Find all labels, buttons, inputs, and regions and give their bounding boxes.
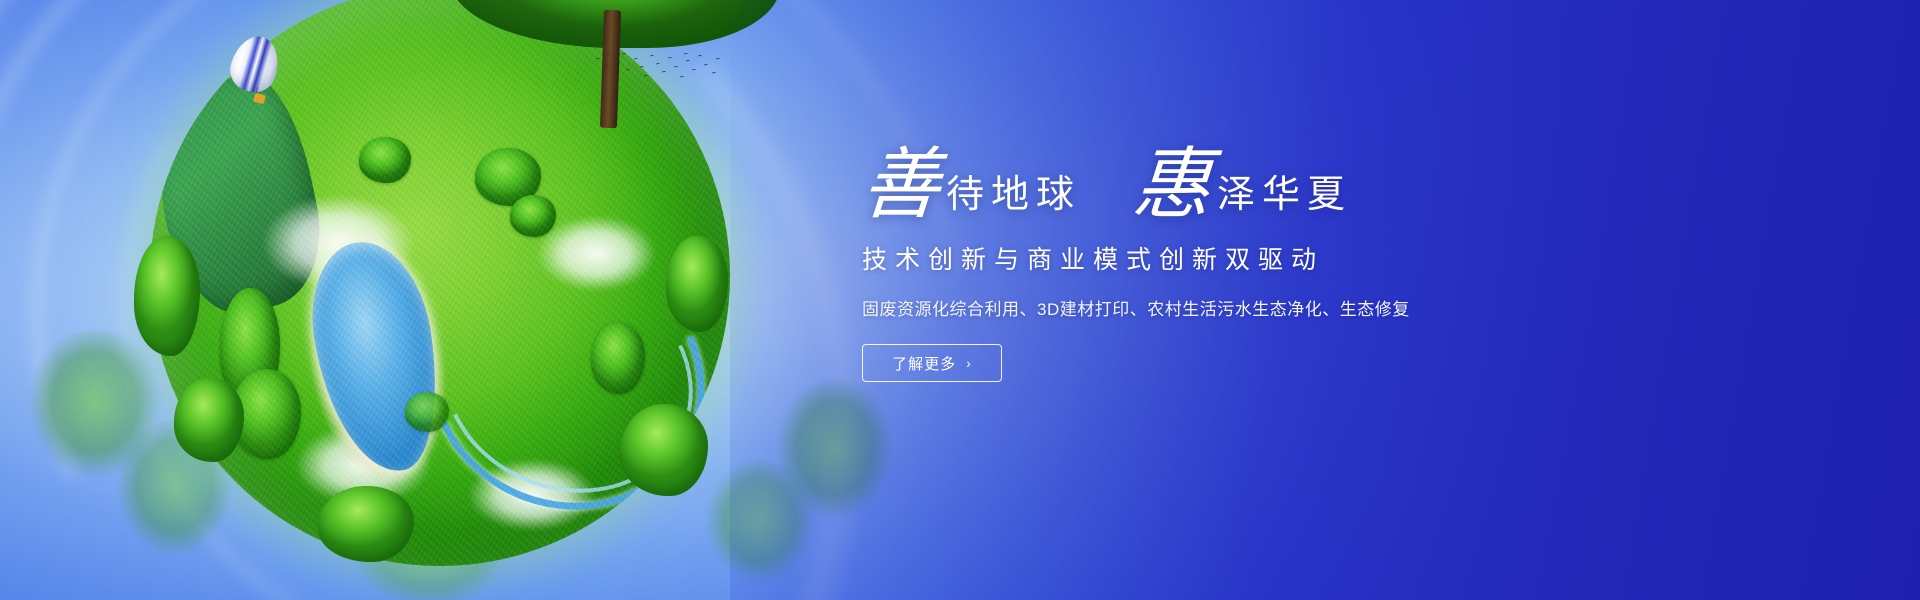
chevron-right-icon: › <box>966 355 972 371</box>
headline-char-2: 惠 <box>1130 146 1213 224</box>
hot-air-balloon-icon <box>232 36 280 116</box>
rim-tree-lower-left <box>174 378 244 462</box>
headline-text-2: 泽华夏 <box>1217 176 1352 214</box>
headline-char-1: 善 <box>859 146 942 224</box>
learn-more-label: 了解更多 <box>892 353 956 374</box>
hero-copy: 善 待地球 惠 泽华夏 技术创新与商业模式创新双驱动 固废资源化综合利用、3D建… <box>862 128 1562 382</box>
balloon-envelope <box>225 31 285 98</box>
rim-tree-bottom <box>318 486 414 562</box>
rim-tree-left <box>134 236 200 356</box>
rim-tree-lower-right <box>620 404 708 496</box>
headline-text-1: 待地球 <box>946 176 1081 214</box>
learn-more-button[interactable]: 了解更多 › <box>862 344 1002 382</box>
hero-subtitle: 技术创新与商业模式创新双驱动 <box>862 240 1562 276</box>
hero-banner: 善 待地球 惠 泽华夏 技术创新与商业模式创新双驱动 固废资源化综合利用、3D建… <box>0 0 1920 600</box>
rim-tree-right <box>666 236 728 332</box>
page-title: 善 待地球 惠 泽华夏 <box>862 128 1562 220</box>
hero-description: 固废资源化综合利用、3D建材打印、农村生活污水生态净化、生态修复 <box>862 295 1562 320</box>
bird-flock-icon <box>592 52 722 86</box>
balloon-basket <box>253 93 266 105</box>
